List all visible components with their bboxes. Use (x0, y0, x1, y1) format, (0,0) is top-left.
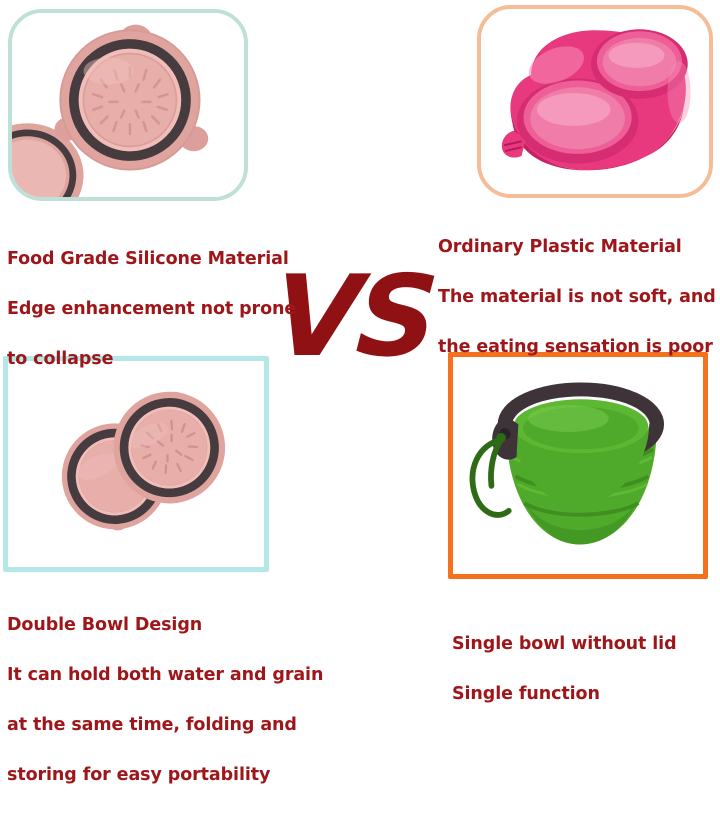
plastic-double-bowl-photo (481, 9, 709, 195)
caption-line: It can hold both water and grain (7, 663, 367, 688)
caption-line: Food Grade Silicone Material (7, 247, 337, 272)
caption-line: Single function (452, 682, 720, 707)
panel-silicone-lid (8, 9, 248, 201)
caption-line: Double Bowl Design (7, 613, 367, 638)
caption-single-bowl: Single bowl without lid Single function (452, 607, 720, 732)
caption-line: at the same time, folding and (7, 713, 367, 738)
green-single-bowl-photo (453, 357, 703, 575)
silicone-bowl-lid-photo (12, 13, 244, 199)
caption-line: Edge enhancement not prone (7, 297, 337, 322)
panel-green-single-bowl (448, 352, 708, 579)
caption-line: to collapse (7, 347, 337, 372)
caption-line: Single bowl without lid (452, 632, 720, 657)
caption-silicone-material: Food Grade Silicone Material Edge enhanc… (7, 222, 337, 397)
caption-line: Ordinary Plastic Material (438, 235, 720, 260)
caption-line: the eating sensation is poor (438, 335, 720, 360)
infographic-canvas: VS Food Grade Silicone Material Edge enh… (0, 0, 720, 720)
panel-plastic-double-bowl (477, 5, 713, 198)
caption-double-bowl-design: Double Bowl Design It can hold both wate… (7, 588, 367, 813)
caption-plastic-material: Ordinary Plastic Material The material i… (438, 210, 720, 385)
caption-line: storing for easy portability (7, 763, 367, 788)
caption-line: The material is not soft, and (438, 285, 720, 310)
